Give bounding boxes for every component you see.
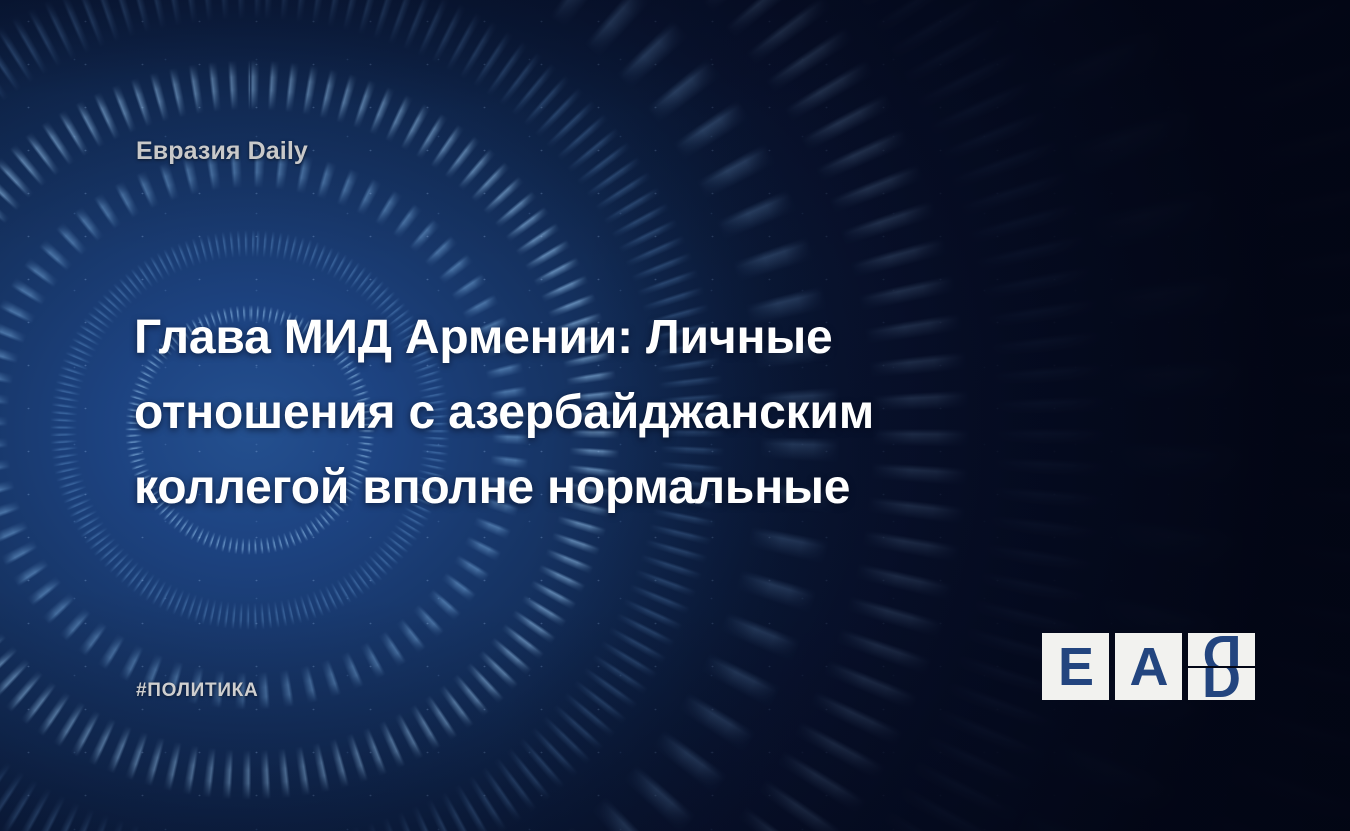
- site-logo-text[interactable]: Евразия Daily: [136, 137, 308, 166]
- news-card: Евразия Daily Глава МИД Армении: Личные …: [0, 0, 1350, 831]
- brand-tile-a: A: [1115, 633, 1182, 700]
- brand-tile-d-bottom: D: [1188, 668, 1255, 701]
- brand-tile-d-split: D D: [1188, 633, 1255, 700]
- eadaily-logo[interactable]: E A D D: [1042, 633, 1255, 700]
- brand-tile-d-top: D: [1188, 633, 1255, 666]
- headline-line-3: коллегой вполне нормальные: [134, 450, 1034, 525]
- article-headline: Глава МИД Армении: Личные отношения с аз…: [134, 300, 1034, 525]
- brand-letter-d: D: [1202, 668, 1241, 701]
- category-hashtag[interactable]: #ПОЛИТИКА: [136, 680, 258, 702]
- brand-letter-d-rotated: D: [1202, 633, 1241, 666]
- headline-line-1: Глава МИД Армении: Личные: [134, 300, 1034, 375]
- brand-letter-a: A: [1130, 640, 1168, 694]
- brand-letter-e: E: [1058, 640, 1093, 694]
- brand-tile-e: E: [1042, 633, 1109, 700]
- headline-line-2: отношения с азербайджанским: [134, 375, 1034, 450]
